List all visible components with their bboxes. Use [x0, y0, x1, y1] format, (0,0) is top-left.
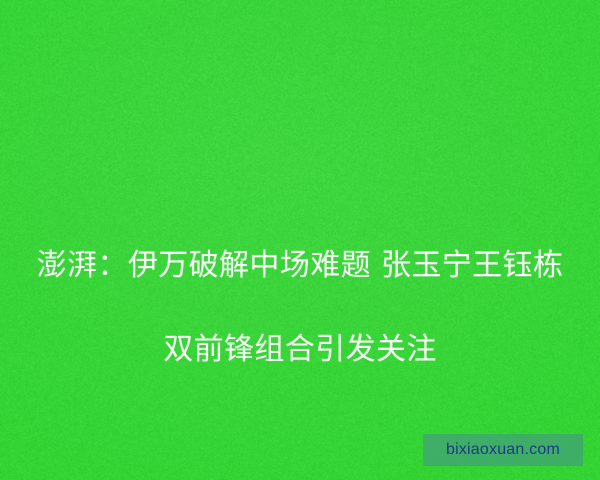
headline-text: 澎湃：伊万破解中场难题 张玉宁王钰栋 双前锋组合引发关注 — [0, 203, 600, 413]
watermark-label: bixiaoxuan.com — [446, 442, 560, 458]
headline-line-1: 澎湃：伊万破解中场难题 张玉宁王钰栋 — [14, 245, 586, 287]
headline-line-2: 双前锋组合引发关注 — [14, 329, 586, 371]
news-title-card: 澎湃：伊万破解中场难题 张玉宁王钰栋 双前锋组合引发关注 bixiaoxuan.… — [0, 0, 600, 480]
watermark-badge: bixiaoxuan.com — [423, 434, 583, 466]
